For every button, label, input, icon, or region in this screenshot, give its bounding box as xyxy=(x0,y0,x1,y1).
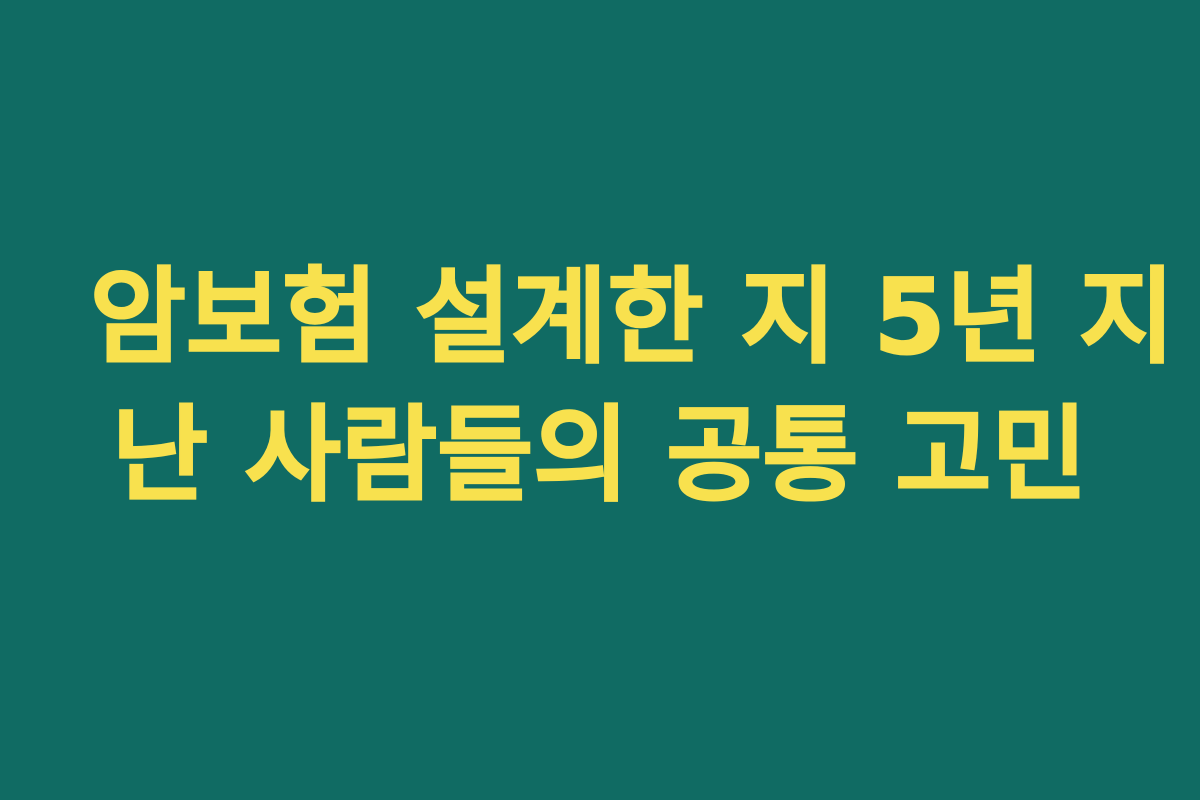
headline-text: 암보험 설계한 지 5년 지 난 사람들의 공통 고민 xyxy=(90,248,1110,524)
headline-line-2: 난 사람들의 공통 고민 xyxy=(90,386,1110,524)
headline-line-1: 암보험 설계한 지 5년 지 xyxy=(90,248,1110,386)
text-banner: 암보험 설계한 지 5년 지 난 사람들의 공통 고민 xyxy=(0,0,1200,800)
